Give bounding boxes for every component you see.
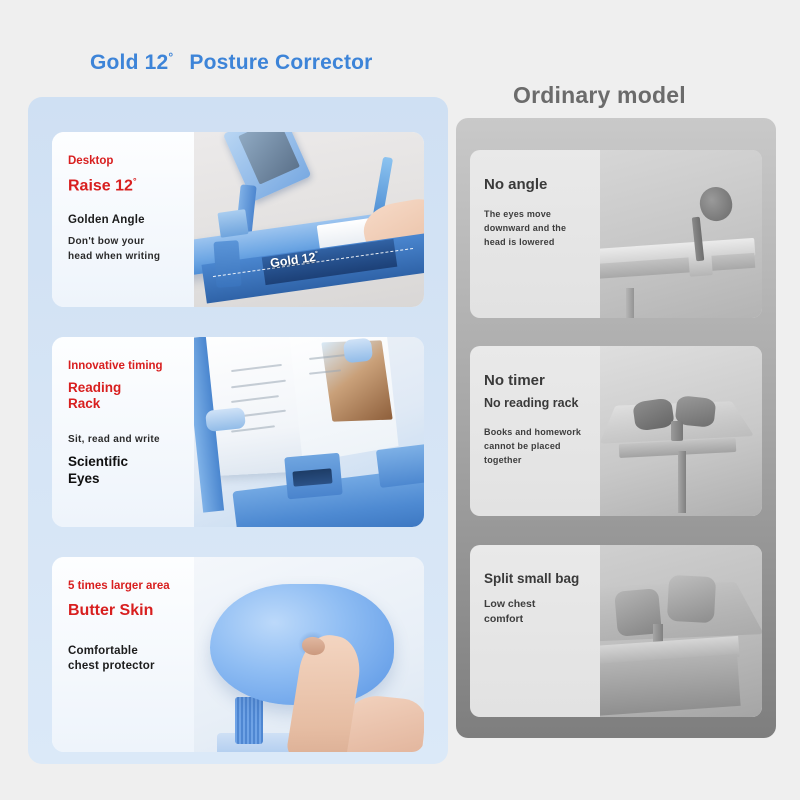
feature-card-text: Desktop Raise 12° Golden Angle Don't bow…: [52, 132, 194, 307]
gold-model-panel: Desktop Raise 12° Golden Angle Don't bow…: [28, 97, 448, 764]
desk-tray-shape: [376, 444, 424, 488]
clip-left-shape: [205, 407, 246, 432]
drawback-card-text: No timer No reading rack Books and homew…: [470, 346, 600, 516]
center-pole-shape: [678, 451, 686, 512]
card-body: Books and homework cannot be placed toge…: [484, 426, 592, 468]
drawback-card-no-timer: No timer No reading rack Books and homew…: [470, 346, 762, 516]
left-title-brand: Gold 12: [90, 51, 168, 74]
pad-connector-shape: [671, 421, 682, 441]
table-leg-shape: [626, 288, 634, 318]
card-subhead: No reading rack: [484, 396, 592, 412]
feature-card-desktop-raise: Desktop Raise 12° Golden Angle Don't bow…: [52, 132, 424, 307]
drawback-card-text: No angle The eyes move downward and the …: [470, 150, 600, 318]
pad-head-shape: [697, 184, 737, 224]
pad-stem-left-shape: [235, 697, 263, 744]
gray-flat-desk-no-angle-photo: [600, 150, 762, 318]
headline-degree-symbol: °: [133, 176, 137, 186]
feature-card-butter-skin: 5 times larger area Butter Skin Comforta…: [52, 557, 424, 752]
gray-split-small-bag-photo: [600, 545, 762, 717]
feature-card-text: Innovative timing Reading Rack Sit, read…: [52, 337, 194, 527]
butter-skin-chest-pad-photo: [194, 557, 424, 752]
card-subhead: Scientific Eyes: [68, 454, 184, 488]
card-subhead: Golden Angle: [68, 213, 184, 228]
knuckle-shape: [343, 693, 424, 752]
card-tagline: 5 times larger area: [68, 579, 184, 595]
gray-desk-no-timer-photo: [600, 346, 762, 516]
drawback-card-split-small-bag: Split small bag Low chest comfort: [470, 545, 762, 717]
card-headline: Raise 12°: [68, 176, 184, 196]
card-body: Sit, read and write: [68, 433, 184, 448]
card-headline: Butter Skin: [68, 601, 184, 621]
desk-leg-shape: [213, 240, 241, 287]
left-panel-title: Gold 12°Posture Corrector: [90, 50, 373, 75]
feature-card-text: 5 times larger area Butter Skin Comforta…: [52, 557, 194, 752]
overlay-degree-symbol: °: [315, 250, 319, 257]
card-tagline: Desktop: [68, 154, 184, 170]
card-headline: No timer: [484, 372, 592, 390]
card-tagline: Innovative timing: [68, 359, 184, 375]
reading-rack-with-timer-photo: [194, 337, 424, 527]
drawback-card-no-angle: No angle The eyes move downward and the …: [470, 150, 762, 318]
card-headline: Split small bag: [484, 571, 592, 587]
comparison-infographic: Gold 12°Posture Corrector Ordinary model…: [0, 0, 800, 800]
pen-cup-shape: [218, 209, 249, 237]
card-headline: Reading Rack: [68, 380, 184, 414]
small-bag-right-shape: [667, 575, 716, 624]
desk-body-shape: [600, 653, 741, 715]
feature-card-reading-rack: Innovative timing Reading Rack Sit, read…: [52, 337, 424, 527]
drawback-card-text: Split small bag Low chest comfort: [470, 545, 600, 717]
card-body: The eyes move downward and the head is l…: [484, 208, 592, 250]
card-body: Low chest comfort: [484, 597, 592, 627]
left-title-rest: Posture Corrector: [189, 51, 372, 74]
card-body: Don't bow your head when writing: [68, 235, 184, 264]
card-headline: No angle: [484, 176, 592, 194]
ordinary-model-panel: No angle The eyes move downward and the …: [456, 118, 776, 738]
tilted-blue-desk-photo: Gold 12°: [194, 132, 424, 307]
right-panel-title: Ordinary model: [513, 82, 686, 109]
card-body: Comfortable chest protector: [68, 644, 184, 674]
clip-right-shape: [342, 338, 372, 364]
left-title-degree-symbol: °: [168, 50, 173, 64]
